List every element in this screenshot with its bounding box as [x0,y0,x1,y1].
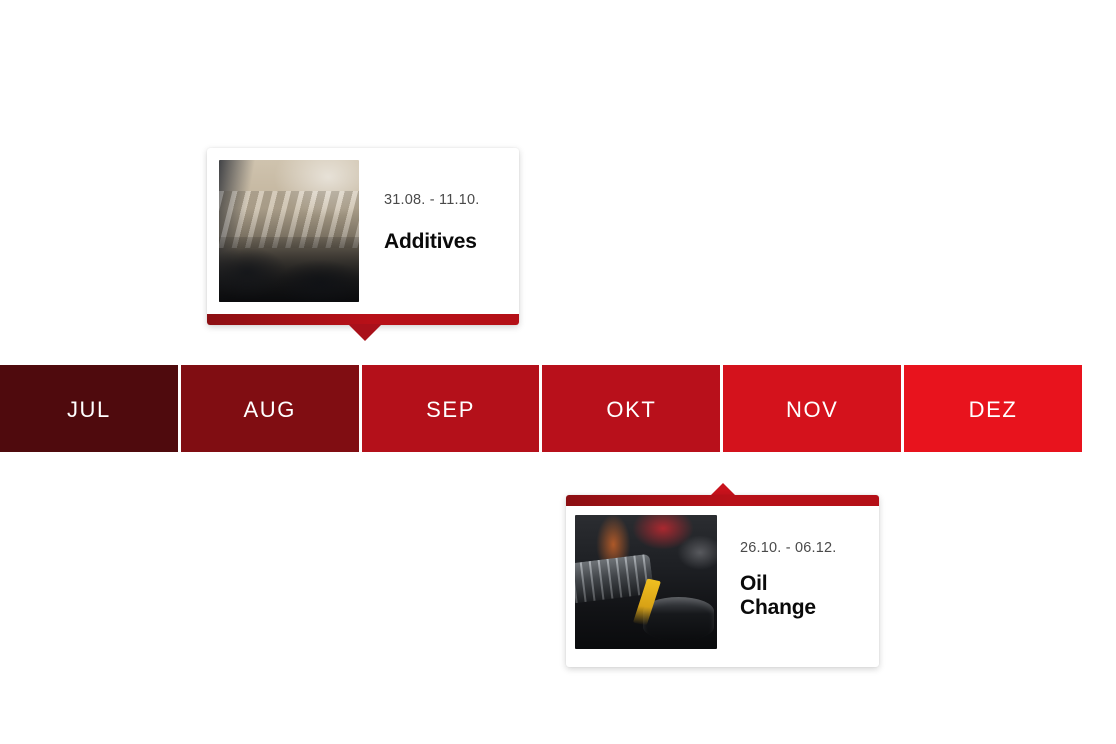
oil-change-photo-art [575,515,717,649]
oil-change-photo [575,515,717,649]
engine-bay-photo-art [219,160,359,302]
month-label: NOV [786,399,838,421]
month-block-okt[interactable]: OKT [542,365,720,452]
card-date-range: 26.10. - 06.12. [740,541,867,556]
card-accent-bar [566,495,879,506]
month-block-jul[interactable]: JUL [0,365,178,452]
card-content: 31.08. - 11.10. Additives [207,148,519,325]
card-title: Oil Change [740,572,867,622]
card-title: Additives [384,230,507,255]
month-block-nov[interactable]: NOV [723,365,901,452]
card-pointer-down-icon [348,324,382,341]
month-block-aug[interactable]: AUG [181,365,359,452]
month-label: JUL [67,399,111,421]
oil-pan-shape [643,597,714,641]
card-content: 26.10. - 06.12. Oil Change [566,495,879,667]
month-block-sep[interactable]: SEP [362,365,540,452]
month-block-dez[interactable]: DEZ [904,365,1082,452]
month-label: OKT [606,399,656,421]
engine-bay-photo [219,160,359,302]
timeline-month-bar: JUL AUG SEP OKT NOV DEZ [0,365,1082,452]
promo-card-oil-change[interactable]: 26.10. - 06.12. Oil Change [566,495,879,667]
card-text-block: 26.10. - 06.12. Oil Change [717,515,867,621]
promo-card-additives[interactable]: 31.08. - 11.10. Additives [207,148,519,325]
month-label: DEZ [969,399,1018,421]
card-date-range: 31.08. - 11.10. [384,193,507,208]
month-label: SEP [426,399,475,421]
month-label: AUG [244,399,296,421]
card-text-block: 31.08. - 11.10. Additives [359,160,507,254]
